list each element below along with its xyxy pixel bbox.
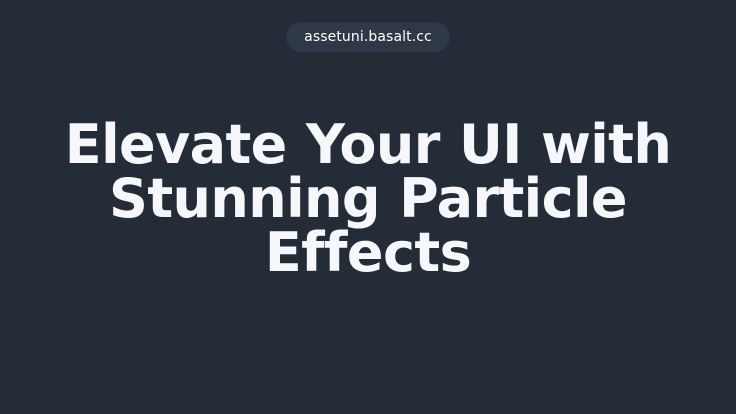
badge-row: assetuni.basalt.cc — [0, 22, 736, 52]
page-title: Elevate Your UI with Stunning Particle E… — [48, 118, 688, 280]
hero-title-line-1: Elevate Your UI with — [48, 118, 688, 172]
hero-section: Elevate Your UI with Stunning Particle E… — [0, 118, 736, 280]
hero-title-line-2: Stunning Particle — [48, 172, 688, 226]
site-url-badge[interactable]: assetuni.basalt.cc — [286, 22, 450, 52]
hero-page: assetuni.basalt.cc Elevate Your UI with … — [0, 0, 736, 414]
hero-title-line-3: Effects — [48, 226, 688, 280]
